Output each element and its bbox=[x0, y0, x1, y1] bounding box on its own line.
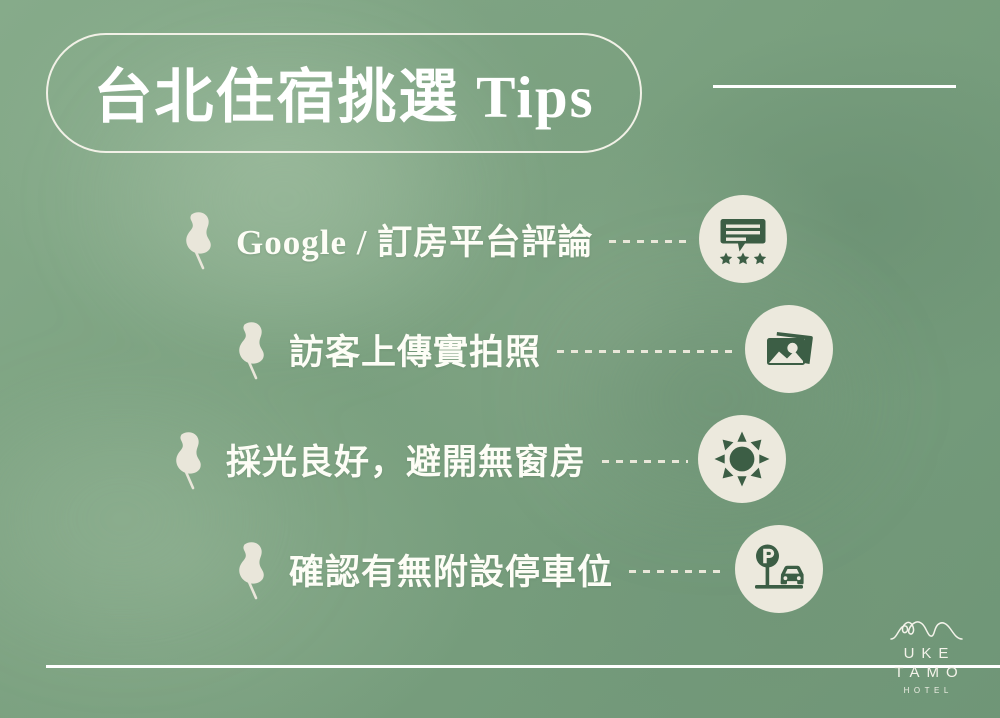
logo-line-1: UKE bbox=[872, 644, 980, 663]
push-pin-icon bbox=[231, 538, 275, 600]
tip-label-2: 訪客上傳實拍照 bbox=[289, 324, 541, 375]
sun-icon bbox=[698, 415, 786, 503]
push-pin-icon bbox=[231, 318, 275, 380]
tip-row-2: 訪客上傳實拍照 bbox=[231, 301, 833, 397]
parking-car-icon bbox=[735, 525, 823, 613]
push-pin-icon bbox=[168, 428, 212, 490]
title-pill: 台北住宿挑選 Tips bbox=[46, 33, 642, 153]
tip-row-3: 採光良好，避開無窗房 bbox=[168, 411, 786, 507]
dotted-connector-4 bbox=[629, 570, 725, 573]
tip-label-3: 採光良好，避開無窗房 bbox=[226, 434, 586, 485]
footer-rule bbox=[46, 665, 1000, 668]
photo-gallery-icon bbox=[745, 305, 833, 393]
logo-subtitle: HOTEL bbox=[872, 686, 980, 695]
tip-row-4: 確認有無附設停車位 bbox=[231, 521, 823, 617]
dotted-connector-1 bbox=[609, 240, 689, 243]
infographic-canvas: 台北住宿挑選 Tips Google / 訂房平台評論 bbox=[0, 0, 1000, 718]
mountain-range-icon bbox=[872, 614, 980, 644]
tip-label-1: Google / 訂房平台評論 bbox=[236, 214, 593, 265]
dotted-connector-3 bbox=[602, 460, 688, 463]
push-pin-icon bbox=[178, 208, 222, 270]
brand-logo: UKE TAMO HOTEL bbox=[872, 614, 980, 695]
tip-label-4: 確認有無附設停車位 bbox=[289, 544, 613, 595]
header-rule bbox=[713, 85, 956, 88]
dotted-connector-2 bbox=[557, 350, 735, 353]
review-stars-icon bbox=[699, 195, 787, 283]
page-title: 台北住宿挑選 Tips bbox=[48, 35, 640, 151]
tip-row-1: Google / 訂房平台評論 bbox=[178, 191, 787, 287]
logo-line-2: TAMO bbox=[872, 663, 980, 682]
